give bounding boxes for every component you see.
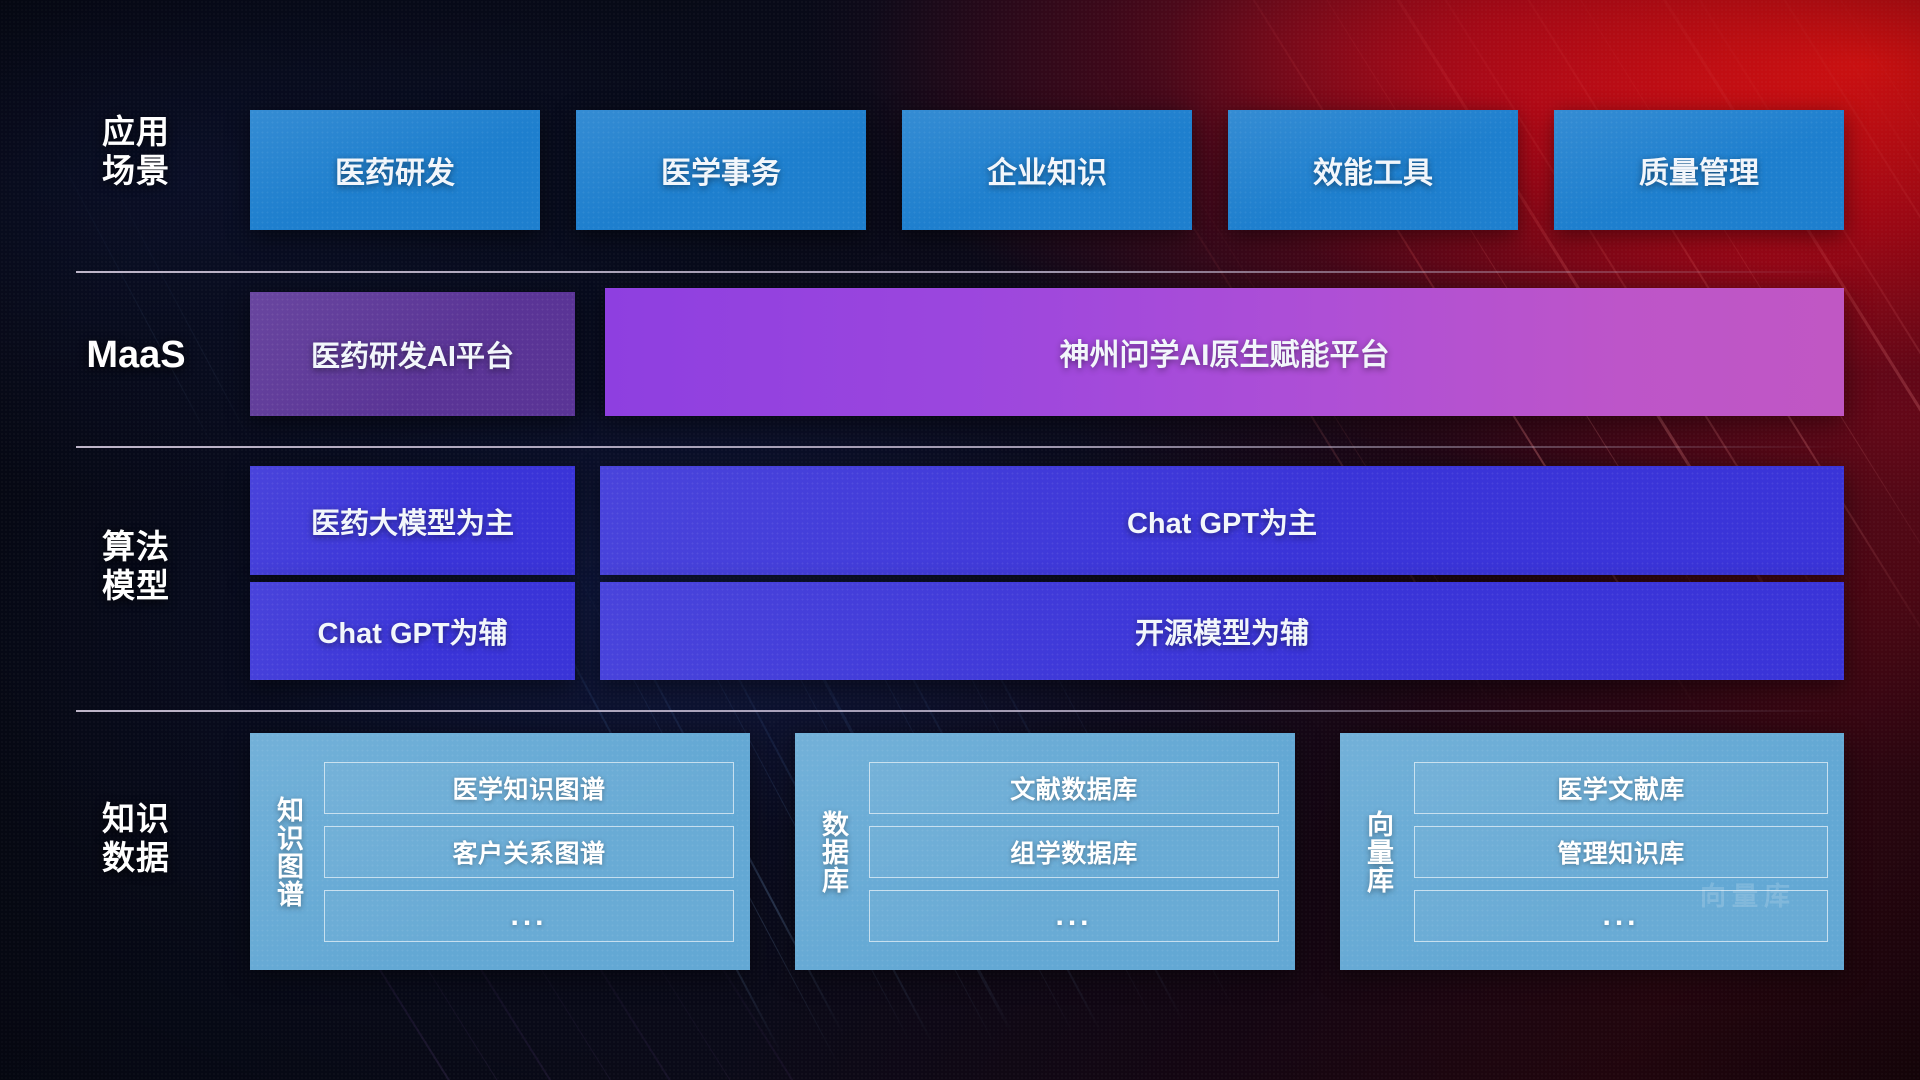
knowledge-panel-knowledge-graph[interactable]: 知识图谱 医学知识图谱 客户关系图谱 ... bbox=[250, 733, 750, 970]
scene-card-label: 质量管理 bbox=[1639, 148, 1759, 192]
scene-card-label: 医药研发 bbox=[335, 148, 455, 192]
knowledge-item-label: ... bbox=[510, 899, 547, 933]
algo-card-medicine-llm-primary[interactable]: 医药大模型为主 bbox=[250, 466, 575, 575]
row-divider-3 bbox=[76, 710, 1844, 712]
knowledge-item-label: 客户关系图谱 bbox=[452, 834, 605, 870]
algo-card-chatgpt-secondary[interactable]: Chat GPT为辅 bbox=[250, 582, 575, 680]
algo-card-label: 医药大模型为主 bbox=[311, 500, 514, 542]
knowledge-panel-database[interactable]: 数据库 文献数据库 组学数据库 ... bbox=[795, 733, 1295, 970]
knowledge-panel-items: 文献数据库 组学数据库 ... bbox=[869, 747, 1279, 956]
knowledge-panel-items: 医学知识图谱 客户关系图谱 ... bbox=[324, 747, 734, 956]
knowledge-item-label: 医学文献库 bbox=[1557, 770, 1685, 806]
knowledge-item-label: 文献数据库 bbox=[1010, 770, 1138, 806]
scene-card-label: 企业知识 bbox=[987, 148, 1107, 192]
knowledge-item-more[interactable]: ... bbox=[324, 890, 734, 942]
maas-card-shenzhou-wenxue-platform[interactable]: 神州问学AI原生赋能平台 bbox=[605, 288, 1844, 416]
maas-card-label: 神州问学AI原生赋能平台 bbox=[1060, 330, 1390, 374]
scene-card-medical-affairs[interactable]: 医学事务 bbox=[576, 110, 866, 230]
knowledge-item-more[interactable]: ... bbox=[869, 890, 1279, 942]
scene-card-label: 医学事务 bbox=[661, 148, 781, 192]
knowledge-item[interactable]: 医学文献库 bbox=[1414, 762, 1828, 814]
row-label-knowledge-data: 知识 数据 bbox=[76, 800, 196, 878]
maas-card-label: 医药研发AI平台 bbox=[311, 333, 514, 375]
knowledge-item[interactable]: 管理知识库 bbox=[1414, 826, 1828, 878]
knowledge-item[interactable]: 医学知识图谱 bbox=[324, 762, 734, 814]
knowledge-panel-label: 向量库 bbox=[1340, 747, 1414, 956]
diagram-stage: 应用 场景 医药研发 医学事务 企业知识 效能工具 质量管理 MaaS 医药研发… bbox=[0, 0, 1920, 1080]
scene-card-quality-management[interactable]: 质量管理 bbox=[1554, 110, 1844, 230]
knowledge-panel-vector-store[interactable]: 向量库 医学文献库 管理知识库 ... bbox=[1340, 733, 1844, 970]
row-label-maas: MaaS bbox=[76, 333, 196, 378]
knowledge-panel-items: 医学文献库 管理知识库 ... bbox=[1414, 747, 1828, 956]
knowledge-panel-label: 数据库 bbox=[795, 747, 869, 956]
knowledge-item-label: ... bbox=[1055, 899, 1092, 933]
knowledge-item-label: 管理知识库 bbox=[1557, 834, 1685, 870]
scene-card-label: 效能工具 bbox=[1313, 148, 1433, 192]
scene-card-efficiency-tools[interactable]: 效能工具 bbox=[1228, 110, 1518, 230]
row-divider-2 bbox=[76, 446, 1844, 448]
algo-card-opensource-secondary[interactable]: 开源模型为辅 bbox=[600, 582, 1844, 680]
scene-card-enterprise-knowledge[interactable]: 企业知识 bbox=[902, 110, 1192, 230]
algo-card-label: Chat GPT为辅 bbox=[317, 610, 507, 652]
maas-card-medicine-rd-ai-platform[interactable]: 医药研发AI平台 bbox=[250, 292, 575, 416]
knowledge-item-label: ... bbox=[1602, 899, 1639, 933]
algo-card-label: Chat GPT为主 bbox=[1127, 500, 1317, 542]
row-label-application-scenarios: 应用 场景 bbox=[76, 113, 196, 191]
row-divider-1 bbox=[76, 271, 1844, 273]
knowledge-item[interactable]: 客户关系图谱 bbox=[324, 826, 734, 878]
knowledge-item[interactable]: 组学数据库 bbox=[869, 826, 1279, 878]
algo-card-label: 开源模型为辅 bbox=[1135, 610, 1309, 652]
scene-card-medicine-rd[interactable]: 医药研发 bbox=[250, 110, 540, 230]
knowledge-item-label: 医学知识图谱 bbox=[452, 770, 605, 806]
row-label-algorithm-model: 算法 模型 bbox=[76, 528, 196, 606]
algo-card-chatgpt-primary[interactable]: Chat GPT为主 bbox=[600, 466, 1844, 575]
knowledge-item[interactable]: 文献数据库 bbox=[869, 762, 1279, 814]
knowledge-item-label: 组学数据库 bbox=[1010, 834, 1138, 870]
knowledge-item-more[interactable]: ... bbox=[1414, 890, 1828, 942]
knowledge-panel-label: 知识图谱 bbox=[250, 747, 324, 956]
